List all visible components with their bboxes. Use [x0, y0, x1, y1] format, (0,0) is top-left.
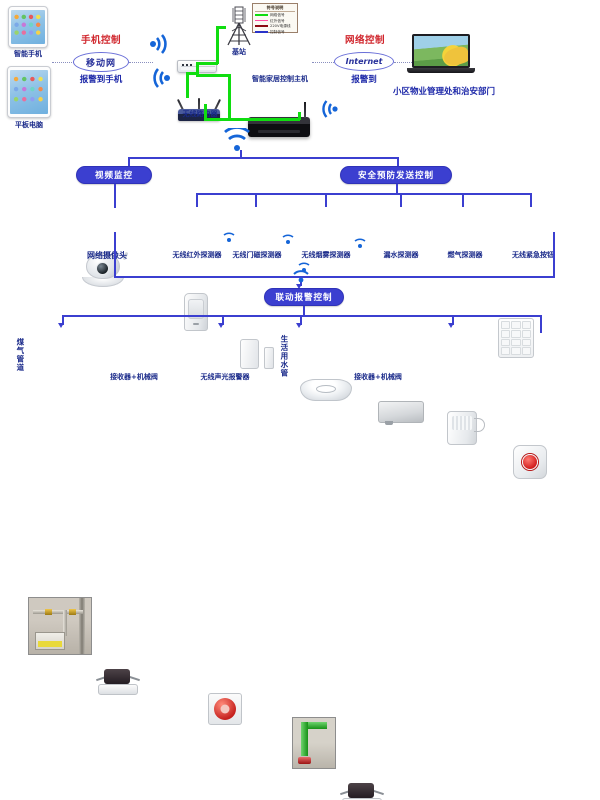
actuator-valve — [98, 684, 138, 695]
legend-item: 控制信号 — [255, 29, 295, 35]
device-label-control-host: 智能家居控制主机 — [234, 76, 326, 84]
process-box-security-dispatch[interactable]: 安全预防发送控制 — [340, 166, 452, 184]
bus-link — [114, 184, 116, 208]
device-label-smartphone: 智能手机 — [4, 51, 52, 59]
wifi-signal-icon — [146, 68, 172, 88]
linkage-collect-drop — [553, 232, 555, 278]
keypad-key[interactable] — [522, 321, 531, 329]
legend-swatch-network — [255, 14, 268, 16]
network-link — [186, 72, 198, 75]
bus-link — [128, 157, 398, 159]
door-contact-body — [240, 339, 259, 369]
device-water-valve-actuator — [340, 781, 384, 800]
device-keypad-panel — [498, 318, 534, 358]
keypad-key[interactable] — [522, 339, 531, 347]
actuator-valve — [342, 798, 382, 800]
device-gas-valve-actuator — [96, 667, 140, 697]
wifi-signal-icon — [222, 128, 252, 152]
gas-meter — [35, 632, 65, 650]
actuator-arrow-down — [296, 323, 302, 328]
device-water-leak-detector — [378, 401, 424, 423]
device-tablet — [7, 66, 51, 118]
gas-vertical-pipe — [79, 598, 85, 654]
device-gas-detector — [447, 411, 477, 445]
camera-lens — [96, 262, 109, 275]
host-antenna — [304, 102, 306, 118]
keypad-key[interactable] — [511, 339, 520, 347]
actuator-arrow-down — [218, 323, 224, 328]
network-link — [204, 104, 207, 120]
sensor-drop — [325, 193, 327, 207]
photo-gas-pipe — [28, 597, 92, 655]
sensor-label-emergency-button: 无线紧急按钮 — [498, 252, 568, 260]
sensor-label-smoke-detector: 无线烟雾探测器 — [287, 252, 365, 260]
dotted-link-left-in — [52, 62, 74, 63]
sensor-label-gas-detector: 燃气探测器 — [432, 252, 498, 260]
sensor-drop — [196, 193, 198, 207]
label-phone-control: 手机控制 — [72, 36, 130, 46]
linkage-collect-drop — [114, 232, 116, 278]
device-label-base-station: 基站 — [218, 49, 260, 57]
keypad-key[interactable] — [511, 347, 520, 355]
sensor-drop — [530, 193, 532, 207]
legend-title: 符号说明 — [255, 5, 295, 12]
network-link — [216, 28, 219, 64]
legend-label: 控制信号 — [270, 29, 285, 35]
device-base-station — [222, 5, 256, 49]
smartphone-screen — [11, 10, 45, 44]
process-box-label: 视频监控 — [95, 169, 133, 181]
actuator-label-siren: 无线声光报警器 — [184, 374, 266, 382]
keypad-key[interactable] — [501, 330, 510, 338]
smoke-detector-ring — [316, 385, 336, 393]
label-alarm-to-phone: 报警到手机 — [70, 76, 132, 85]
sensor-label-door-contact: 无线门磁探测器 — [218, 252, 296, 260]
sensor-drop — [462, 193, 464, 207]
keypad-key[interactable] — [501, 347, 510, 355]
wifi-signal-icon — [222, 232, 236, 243]
laptop-base — [407, 68, 475, 73]
network-link — [186, 72, 189, 98]
actuator-label-gas-receiver-valve: 接收器+机械阀 — [98, 374, 170, 382]
actuator-receiver — [104, 669, 130, 684]
network-link — [228, 74, 231, 120]
legend-swatch-infrared — [255, 20, 268, 22]
network-internet-label: Internet — [346, 57, 383, 66]
sensor-drop — [255, 193, 257, 207]
actuator-label-water-pipe: 生活用水管 — [280, 330, 288, 382]
device-sound-light-siren — [208, 693, 242, 725]
water-valve — [298, 757, 311, 764]
gas-valve-brass — [69, 609, 76, 615]
device-emergency-button — [513, 445, 547, 479]
network-link — [298, 112, 301, 120]
actuator-receiver — [348, 783, 374, 798]
network-link — [204, 118, 300, 121]
sensor-label-water-leak-detector: 漏水探测器 — [368, 252, 434, 260]
network-mobile: 移动网 — [73, 52, 129, 72]
device-smartphone — [8, 6, 48, 48]
network-internet: Internet — [334, 52, 394, 71]
laptop-screen — [414, 36, 468, 66]
actuator-arrow-down — [448, 323, 454, 328]
keypad-key[interactable] — [501, 339, 510, 347]
sensor-bus — [196, 193, 532, 195]
keypad-key[interactable] — [522, 330, 531, 338]
keypad-key[interactable] — [522, 347, 531, 355]
wifi-signal-icon — [353, 238, 367, 249]
siren-lens — [214, 698, 236, 720]
sensor-label-ip-camera: 网络摄像头 — [72, 252, 142, 261]
dotted-link-right-in — [312, 62, 334, 63]
keypad-key[interactable] — [501, 321, 510, 329]
wifi-signal-icon — [292, 270, 310, 284]
actuator-label-gas-pipe: 煤气管道 — [16, 330, 24, 380]
device-door-contact — [240, 335, 274, 369]
actuator-drop — [540, 315, 542, 333]
wifi-signal-icon — [281, 234, 295, 245]
network-mobile-label: 移动网 — [86, 56, 116, 69]
legend-box: 符号说明 网络信号 红外信号 220V电源线 控制信号 — [252, 3, 298, 33]
dotted-link-left-out — [129, 62, 153, 63]
label-monitoring-center: 小区物业管理处和治安部门 — [378, 88, 510, 97]
keypad-key[interactable] — [511, 330, 520, 338]
emergency-button-cap — [522, 454, 538, 470]
device-laptop — [412, 34, 475, 73]
gas-detector-cord — [474, 418, 485, 432]
network-link — [196, 62, 218, 65]
legend-swatch-power — [255, 25, 268, 27]
device-smoke-detector — [300, 379, 352, 401]
process-box-linkage-alarm[interactable]: 联动报警控制 — [264, 288, 344, 306]
wifi-signal-icon — [316, 100, 340, 118]
tablet-screen — [10, 70, 48, 114]
network-link — [216, 26, 226, 29]
process-box-label: 安全预防发送控制 — [358, 169, 434, 181]
gas-valve-brass — [45, 609, 52, 615]
water-pipe-riser — [301, 722, 308, 756]
keypad-key[interactable] — [511, 321, 520, 329]
dotted-link-right-out — [394, 62, 414, 63]
wifi-signal-icon — [148, 34, 174, 54]
door-contact-magnet — [264, 347, 274, 369]
process-box-label: 联动报警控制 — [275, 291, 332, 303]
legend-swatch-control — [255, 31, 268, 33]
actuator-arrow-down — [58, 323, 64, 328]
device-label-tablet: 平板电脑 — [3, 122, 55, 130]
photo-water-pipe — [292, 717, 336, 769]
diagram-canvas: 符号说明 网络信号 红外信号 220V电源线 控制信号 智能手机 平板电脑 手机… — [0, 0, 600, 400]
device-infrared-detector — [184, 293, 208, 331]
process-box-video-surveillance[interactable]: 视频监控 — [76, 166, 152, 184]
laptop-lid — [412, 34, 470, 68]
linkage-collect-bus — [114, 276, 554, 278]
legend-label: 网络信号 — [270, 12, 285, 18]
label-alarm-to: 报警到 — [338, 76, 390, 85]
actuator-label-water-receiver-valve: 接收器+机械阀 — [342, 374, 414, 382]
label-network-control: 网络控制 — [336, 36, 394, 46]
network-link — [196, 74, 230, 77]
sensor-drop — [400, 193, 402, 207]
